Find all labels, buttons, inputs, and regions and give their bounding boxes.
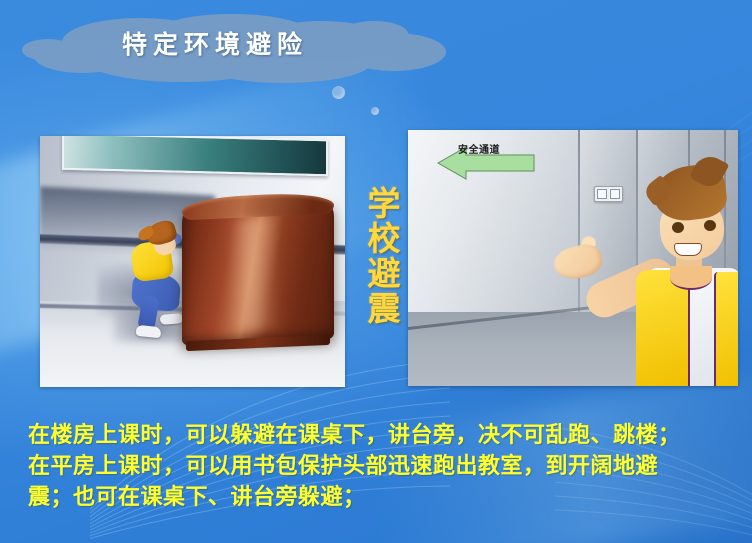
blackboard: [62, 136, 328, 176]
student-shoe-right: [160, 313, 184, 325]
switch-button-2[interactable]: [610, 189, 620, 199]
pointing-student-vest-right: [714, 272, 738, 386]
vertical-caption-school-earthquake: 学校避震: [358, 186, 398, 326]
decor-bubble-large: [332, 86, 345, 99]
body-text-line-3: 震；也可在课桌下、讲台旁躲避；: [28, 482, 734, 513]
pointing-student-collar: [670, 266, 712, 290]
body-text-line-1: 在楼房上课时，可以躲避在课桌下，讲台旁，决不可乱跑、跳楼；: [28, 420, 734, 451]
corridor-scene: 安全通道: [408, 130, 738, 386]
pointing-student-mouth: [674, 243, 702, 256]
presentation-slide: 特定环境避险: [0, 0, 752, 543]
page-title: 特定环境避险: [122, 25, 308, 61]
pointing-student-eye-right: [704, 220, 716, 231]
photo-classroom-podium[interactable]: [40, 136, 345, 387]
switch-button-1[interactable]: [597, 189, 607, 199]
photo-corridor-exit[interactable]: 安全通道: [408, 130, 738, 386]
decor-bubble-small: [371, 107, 379, 115]
pointing-student-eye-left: [672, 222, 684, 233]
wall-light-switch[interactable]: [594, 186, 623, 202]
safe-passage-sign-label: 安全通道: [458, 141, 500, 156]
podium-highlight: [228, 217, 280, 331]
wooden-podium: [182, 201, 334, 346]
body-text-line-2: 在平房上课时，可以用书包保护头部迅速跑出教室，到开阔地避: [28, 451, 734, 482]
body-text-block: 在楼房上课时，可以躲避在课桌下，讲台旁，决不可乱跑、跳楼； 在平房上课时，可以用…: [28, 420, 734, 514]
